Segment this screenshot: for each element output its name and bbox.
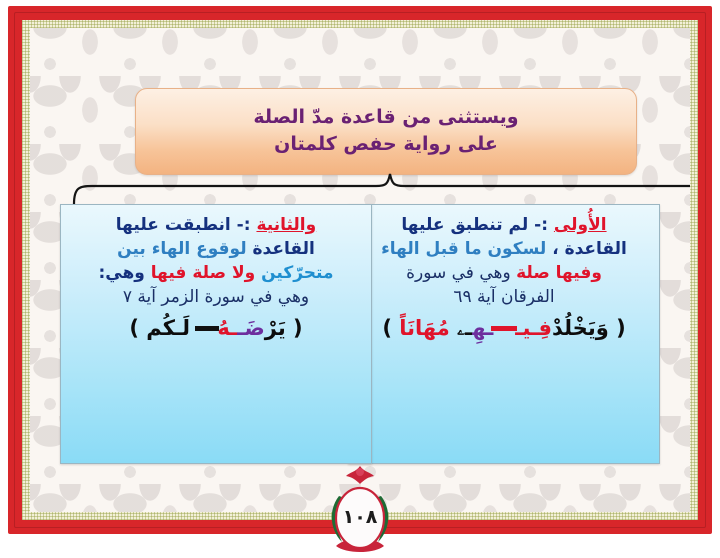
case-one-line-4: الفرقان آية ٦٩ xyxy=(359,285,649,309)
case-one-line-2-b: لسكون ما قبل الهاء xyxy=(381,239,546,259)
case-two-verse-close: ) xyxy=(129,316,139,340)
page-number: ١٠٨ xyxy=(312,506,408,528)
case-one-line-1-rest: لم تنطبق عليها xyxy=(401,215,528,235)
case-two-line-1-rest: انطبقت عليها xyxy=(116,215,231,235)
case-two-separator: :- xyxy=(231,215,257,235)
case-one-line-1: الأُولى :- لم تنطبق عليها xyxy=(359,213,649,237)
case-two-kashida-black xyxy=(195,326,219,331)
case-two-verse-part-2: ضَـ xyxy=(237,316,264,340)
case-two-label: والثانية xyxy=(256,215,316,235)
case-one-box: الأُولى :- لم تنطبق عليها القاعدة ، لسكو… xyxy=(348,204,660,464)
case-one-verse-part-3: ـهِ xyxy=(472,316,493,340)
header-line-1: ويستثنى من قاعدة مدّ الصلة xyxy=(253,106,518,130)
case-two-line-2-b: لوقوع الهاء بين xyxy=(117,239,246,259)
case-two-verse-part-4: لَـكُم xyxy=(146,316,190,340)
case-two-verse-part-1: يَرْ xyxy=(265,316,286,340)
header-banner: ويستثنى من قاعدة مدّ الصلة على رواية حفص… xyxy=(135,88,637,175)
case-one-line-3: وفيها صلة وهي في سورة xyxy=(359,261,649,285)
header-line-2: على رواية حفص كلمتان xyxy=(274,133,498,157)
case-two-line-4: وهي في سورة الزمر آية ٧ xyxy=(71,285,361,309)
case-one-verse-part-4: ـۦ xyxy=(457,316,472,340)
case-two-line-1: والثانية :- انطبقت عليها xyxy=(71,213,361,237)
case-two-line-3: متحرّكين ولا صلة فيها وهي: xyxy=(71,261,361,285)
curly-brace-connector xyxy=(70,173,690,205)
case-one-line-3-b: وهي في سورة xyxy=(406,263,511,283)
case-two-line-3-b: ولا صلة فيها xyxy=(151,263,255,283)
slide-content: ويستثنى من قاعدة مدّ الصلة على رواية حفص… xyxy=(30,28,690,512)
case-one-line-2-a: القاعدة ، xyxy=(552,239,627,259)
case-one-line-2: القاعدة ، لسكون ما قبل الهاء xyxy=(359,237,649,261)
case-one-line-3-a: وفيها صلة xyxy=(516,263,602,283)
case-two-line-3-c: وهي: xyxy=(98,263,144,283)
case-two-verse-part-3: ـهُ xyxy=(217,316,237,340)
case-one-label: الأُولى xyxy=(554,215,607,235)
brace-icon xyxy=(70,173,690,205)
page-number-medallion: ١٠٨ xyxy=(312,462,408,554)
case-two-verse: ( يَرْضَــهُ لَـكُم ) xyxy=(71,316,361,340)
case-one-verse-open: ( xyxy=(616,316,626,340)
case-one-verse-part-1: وَيَخْلُدْ xyxy=(552,316,609,340)
case-two-line-2-a: القاعدة xyxy=(253,239,315,259)
case-one-verse: ( وَيَخْلُدْفِـيــهِـۦ مُهَانَاً ) xyxy=(359,316,649,341)
case-two-box: والثانية :- انطبقت عليها القاعدة لوقوع ا… xyxy=(60,204,372,464)
case-one-verse-part-5: مُهَانَاً xyxy=(399,316,450,340)
case-one-verse-close: ) xyxy=(382,316,392,340)
arabesque-background: ويستثنى من قاعدة مدّ الصلة على رواية حفص… xyxy=(30,28,690,512)
case-two-line-2: القاعدة لوقوع الهاء بين xyxy=(71,237,361,261)
case-one-verse-part-2: فِـيـ xyxy=(515,316,552,340)
case-one-kashida-red xyxy=(491,326,517,331)
case-two-verse-open: ( xyxy=(293,316,303,340)
case-one-separator: :- xyxy=(528,215,554,235)
case-two-line-3-a: متحرّكين xyxy=(261,263,333,283)
slide-root: ويستثنى من قاعدة مدّ الصلة على رواية حفص… xyxy=(0,0,720,540)
